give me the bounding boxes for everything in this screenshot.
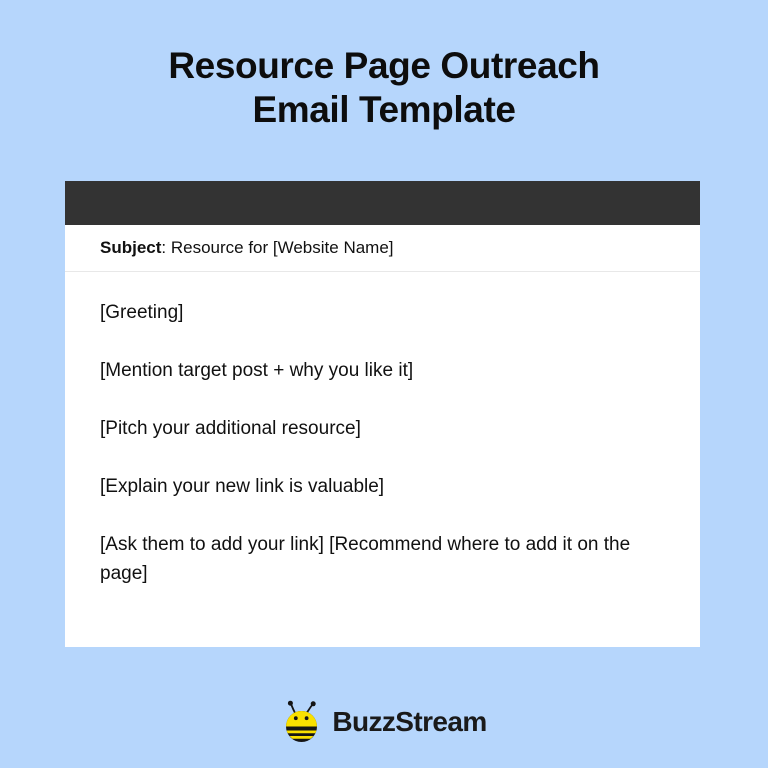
email-subject-label: Subject	[100, 238, 161, 258]
email-body: [Greeting] [Mention target post + why yo…	[65, 272, 700, 588]
bee-icon	[281, 700, 323, 744]
email-body-line: [Pitch your additional resource]	[100, 414, 655, 443]
email-body-line: [Ask them to add your link] [Recommend w…	[100, 530, 655, 588]
email-body-line: [Explain your new link is valuable]	[100, 472, 655, 501]
page-title-line-2: Email Template	[0, 88, 768, 132]
email-body-line: [Greeting]	[100, 298, 655, 327]
email-subject-value: : Resource for [Website Name]	[161, 238, 393, 258]
brand-name: BuzzStream	[332, 708, 486, 736]
email-body-line: [Mention target post + why you like it]	[100, 356, 655, 385]
email-header-bar	[65, 181, 700, 225]
brand-logo: BuzzStream	[0, 700, 768, 744]
page-title: Resource Page Outreach Email Template	[0, 44, 768, 132]
email-template-card: Subject: Resource for [Website Name] [Gr…	[65, 181, 700, 647]
page-title-line-1: Resource Page Outreach	[0, 44, 768, 88]
email-subject-row: Subject: Resource for [Website Name]	[65, 225, 700, 272]
